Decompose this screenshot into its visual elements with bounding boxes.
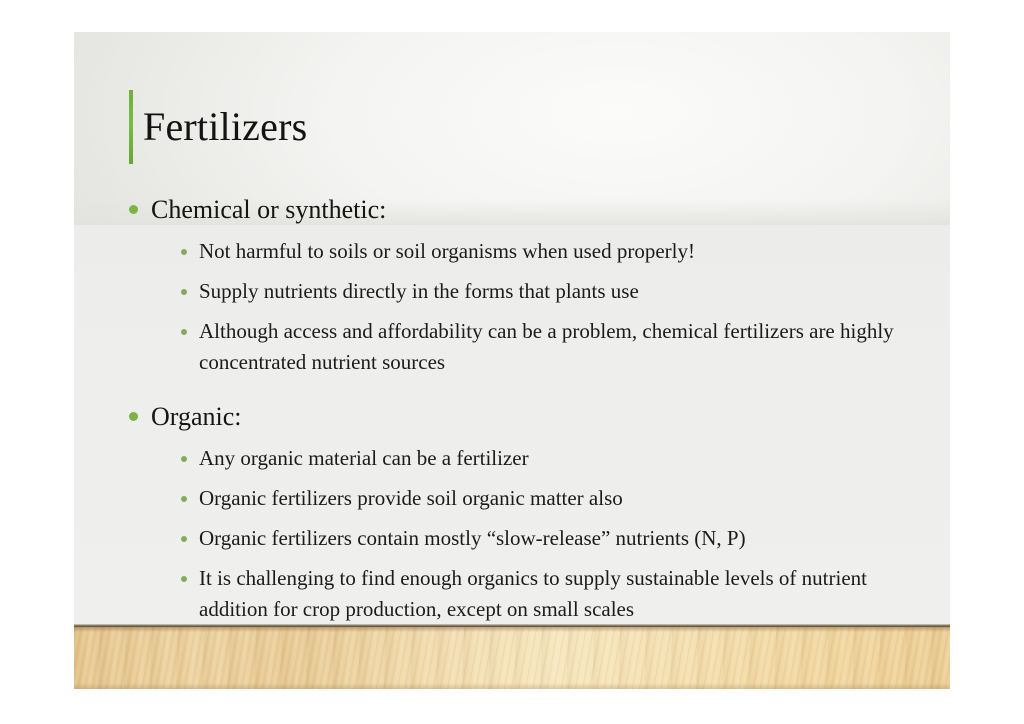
bullet-text: Although access and affordability can be… (199, 316, 921, 378)
slide-title-block: Fertilizers (129, 90, 307, 164)
bullet-text: Organic fertilizers provide soil organic… (199, 483, 623, 514)
list-item: Organic fertilizers provide soil organic… (129, 483, 929, 514)
bullet-text: Organic fertilizers contain mostly “slow… (199, 523, 746, 554)
bullet-text: It is challenging to find enough organic… (199, 563, 921, 625)
bullet-text: Organic: (151, 400, 242, 434)
bullet-text: Not harmful to soils or soil organisms w… (199, 236, 695, 267)
list-item: Although access and affordability can be… (129, 316, 929, 378)
list-item: Organic fertilizers contain mostly “slow… (129, 523, 929, 554)
page-title: Fertilizers (143, 90, 307, 164)
bullet-text: Supply nutrients directly in the forms t… (199, 276, 639, 307)
bullet-text: Any organic material can be a fertilizer (199, 443, 529, 474)
bullet-dot-icon (181, 536, 187, 542)
slide-content-list: Chemical or synthetic: Not harmful to so… (129, 187, 929, 625)
bullet-dot-icon (181, 576, 187, 582)
title-accent-bar (129, 90, 133, 164)
list-item: Organic: (129, 400, 929, 434)
bullet-dot-icon (129, 205, 138, 214)
bullet-dot-icon (181, 289, 187, 295)
bullet-dot-icon (181, 249, 187, 255)
list-item: Supply nutrients directly in the forms t… (129, 276, 929, 307)
bullet-dot-icon (129, 412, 138, 421)
bullet-dot-icon (181, 456, 187, 462)
bullet-text: Chemical or synthetic: (151, 193, 386, 227)
list-item: Not harmful to soils or soil organisms w… (129, 236, 929, 267)
wood-texture-footer (74, 627, 950, 689)
presentation-slide: Fertilizers Chemical or synthetic: Not h… (74, 32, 950, 689)
list-item: Chemical or synthetic: (129, 193, 929, 227)
list-item: It is challenging to find enough organic… (129, 563, 929, 625)
bullet-dot-icon (181, 329, 187, 335)
list-item: Any organic material can be a fertilizer (129, 443, 929, 474)
bullet-dot-icon (181, 496, 187, 502)
